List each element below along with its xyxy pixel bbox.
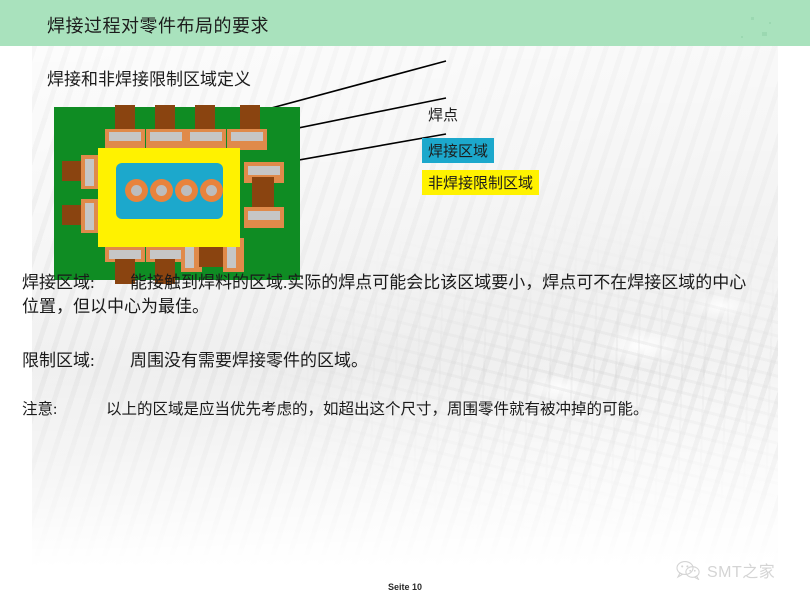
callout-keepout-area: 非焊接限制区域 [422, 170, 539, 195]
header-speck [741, 36, 743, 38]
component-chip [109, 132, 141, 141]
subtitle: 焊接和非焊接限制区域定义 [47, 65, 251, 90]
wechat-icon [676, 560, 702, 580]
text-restricted-area: 周围没有需要焊接零件的区域。 [130, 351, 368, 370]
header-speck [751, 17, 754, 20]
term-restricted-area: 限制区域: [22, 349, 130, 373]
page-number-footer: Seite 10 [0, 582, 810, 592]
component-chip [85, 203, 94, 230]
header-speck [762, 32, 767, 36]
paragraph-solder-area: 焊接区域:能接触到焊料的区域.实际的焊点可能会比该区域要小，焊点可不在焊接区域的… [22, 271, 762, 319]
callout-solder-area: 焊接区域 [422, 138, 494, 163]
solder-point-pad [175, 179, 198, 202]
solder-point-pad [150, 179, 173, 202]
component-chip [150, 132, 182, 141]
component-chip [150, 250, 182, 259]
term-solder-area: 焊接区域: [22, 271, 130, 295]
component-chip [231, 132, 263, 141]
term-note: 注意: [22, 399, 106, 421]
text-note: 以上的区域是应当优先考虑的，如超出这个尺寸，周围零件就有被冲掉的可能。 [106, 401, 649, 418]
paragraph-note: 注意:以上的区域是应当优先考虑的，如超出这个尺寸，周围零件就有被冲掉的可能。 [22, 399, 762, 421]
pcb-diagram [54, 107, 300, 280]
callout-solder-point: 焊点 [422, 102, 464, 127]
text-solder-area: 能接触到焊料的区域.实际的焊点可能会比该区域要小，焊点可不在焊接区域的中心位置，… [22, 273, 746, 316]
solder-point-pad [200, 179, 223, 202]
component-chip [109, 250, 141, 259]
component-chip [248, 211, 280, 220]
watermark-text: SMT之家 [707, 558, 775, 582]
component-chip [248, 166, 280, 175]
component-chip [190, 132, 222, 141]
pcb-board-substrate [54, 107, 300, 280]
header-speck [769, 22, 771, 24]
component-chip [85, 159, 94, 186]
solder-point-pad [125, 179, 148, 202]
paragraph-restricted-area: 限制区域:周围没有需要焊接零件的区域。 [22, 349, 762, 373]
slide-root: 焊接过程对零件布局的要求 焊接和非焊接限制区域定义 [0, 0, 810, 605]
watermark: SMT之家 [676, 558, 775, 582]
header-band: 焊接过程对零件布局的要求 [0, 0, 810, 46]
page-title: 焊接过程对零件布局的要求 [47, 12, 269, 38]
